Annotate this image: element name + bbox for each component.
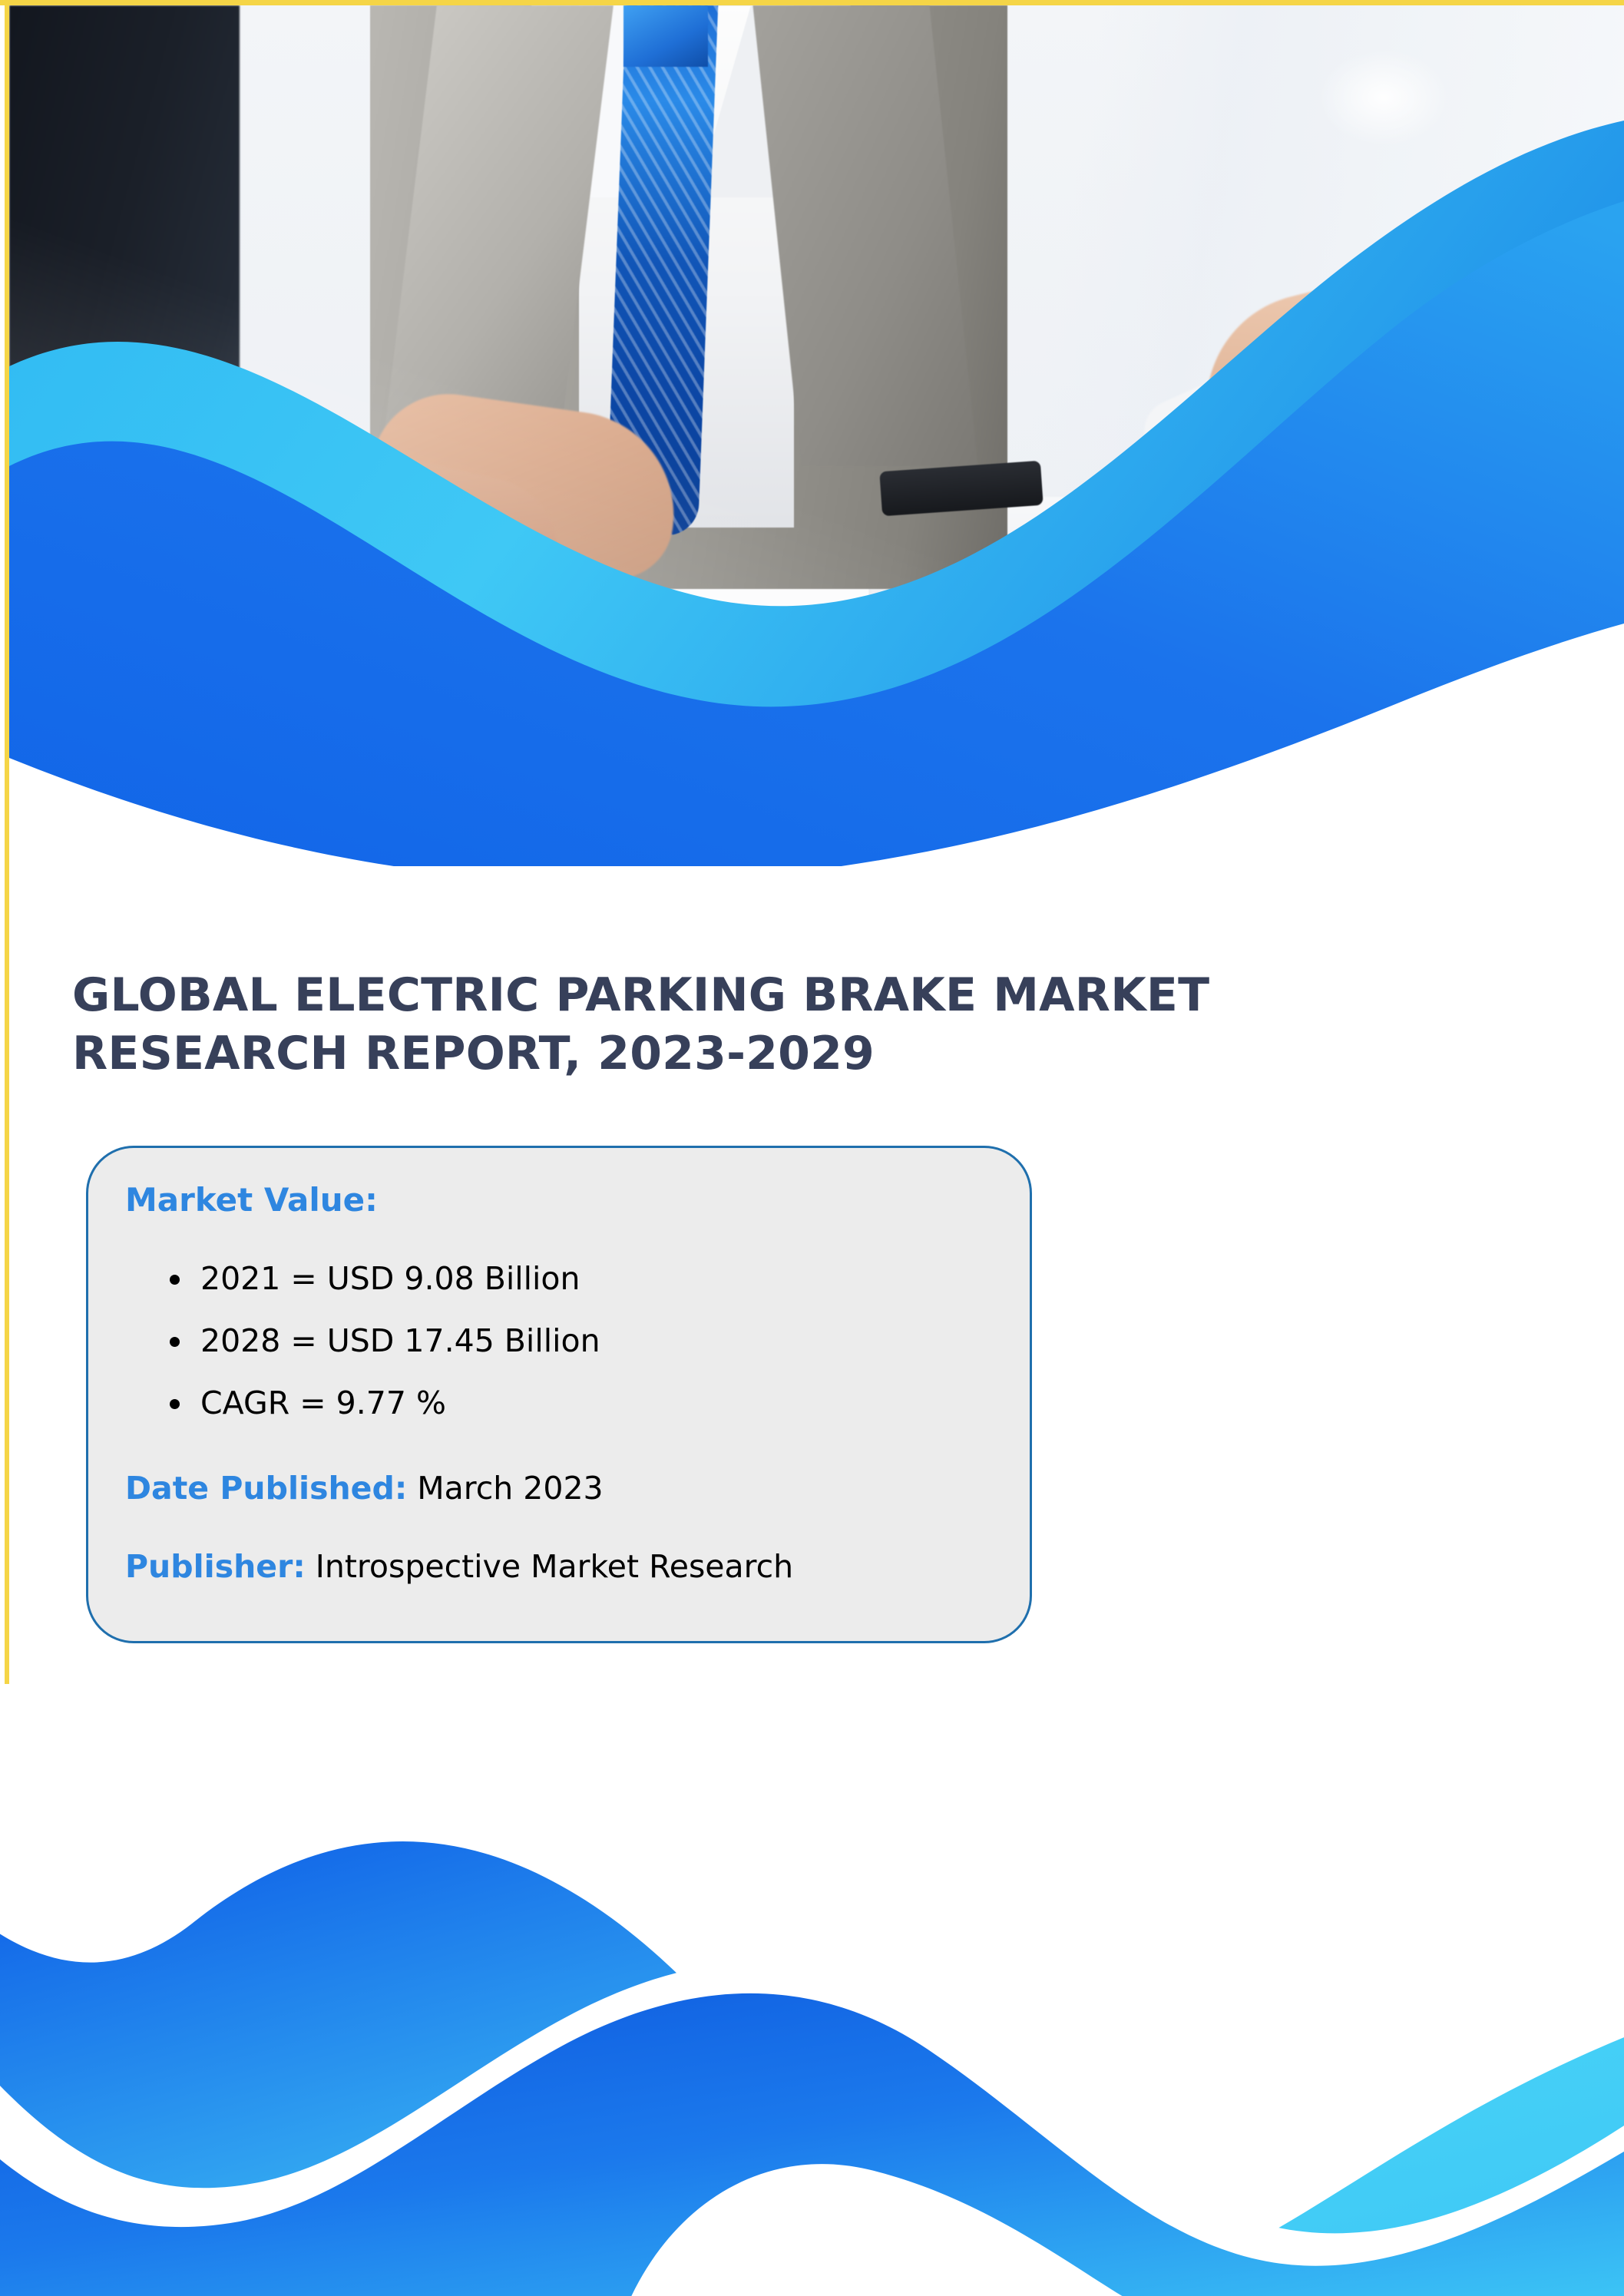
report-cover-page: GLOBAL ELECTRIC PARKING BRAKE MARKET RES… — [0, 0, 1624, 2296]
date-published-value: March 2023 — [417, 1470, 603, 1507]
market-value-heading: Market Value: — [125, 1181, 378, 1219]
footer-wave-graphic — [0, 1839, 1624, 2296]
market-value-list: 2021 = USD 9.08 Billion 2028 = USD 17.45… — [165, 1262, 600, 1448]
hero-wave-graphic — [9, 5, 1624, 866]
list-item: 2028 = USD 17.45 Billion — [200, 1324, 600, 1358]
page-title-line-2: RESEARCH REPORT, 2023-2029 — [72, 1024, 1439, 1083]
hero-image — [9, 5, 1624, 866]
date-published-row: Date Published: March 2023 — [125, 1470, 604, 1507]
publisher-label: Publisher: — [125, 1548, 306, 1585]
date-published-label: Date Published: — [125, 1470, 407, 1507]
top-rule — [0, 0, 1624, 5]
page-title: GLOBAL ELECTRIC PARKING BRAKE MARKET RES… — [72, 966, 1439, 1083]
page-title-line-1: GLOBAL ELECTRIC PARKING BRAKE MARKET — [72, 966, 1439, 1024]
list-item: CAGR = 9.77 % — [200, 1386, 600, 1421]
list-item: 2021 = USD 9.08 Billion — [200, 1262, 600, 1296]
market-highlights-card: Market Value: 2021 = USD 9.08 Billion 20… — [86, 1146, 1032, 1643]
publisher-row: Publisher: Introspective Market Research — [125, 1548, 793, 1585]
publisher-value: Introspective Market Research — [316, 1548, 793, 1585]
